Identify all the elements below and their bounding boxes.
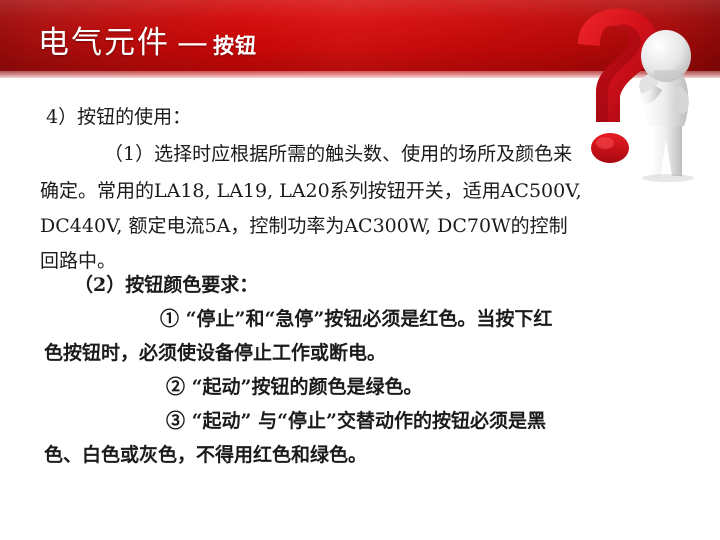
slide-body: 4）按钮的使用： （1）选择时应根据所需的触头数、使用的场所及颜色来 确定。常用… [0, 78, 720, 540]
body-line: 4）按钮的使用： [46, 108, 191, 127]
title-subtitle: 按钮 [213, 30, 257, 60]
page-title: 电气元件 [38, 17, 170, 62]
title-separator-dash: — [177, 25, 208, 61]
body-line: 色、白色或灰色，不得用红色和绿色。 [44, 446, 367, 465]
body-line: 色按钮时，必须使设备停止工作或断电。 [44, 344, 386, 363]
body-line: 回路中。 [40, 252, 116, 271]
body-line: DC440V, 额定电流5A，控制功率为AC300W, DC70W的控制 [40, 217, 568, 236]
body-line: 确定。常用的LA18, LA19, LA20系列按钮开关，适用AC500V, [40, 182, 582, 201]
body-line: （1）选择时应根据所需的触头数、使用的场所及颜色来 [104, 145, 572, 164]
body-line: （2）按钮颜色要求： [74, 276, 258, 295]
slide-title: 电气元件 — 按钮 [38, 17, 257, 62]
body-line: ③ “起动” 与“停止”交替动作的按钮必须是黑 [166, 412, 546, 431]
presentation-slide: 电气元件 — 按钮 [0, 0, 720, 540]
body-line: ② “起动”按钮的颜色是绿色。 [166, 378, 422, 397]
body-line: ① “停止”和“急停”按钮必须是红色。当按下红 [160, 310, 552, 329]
